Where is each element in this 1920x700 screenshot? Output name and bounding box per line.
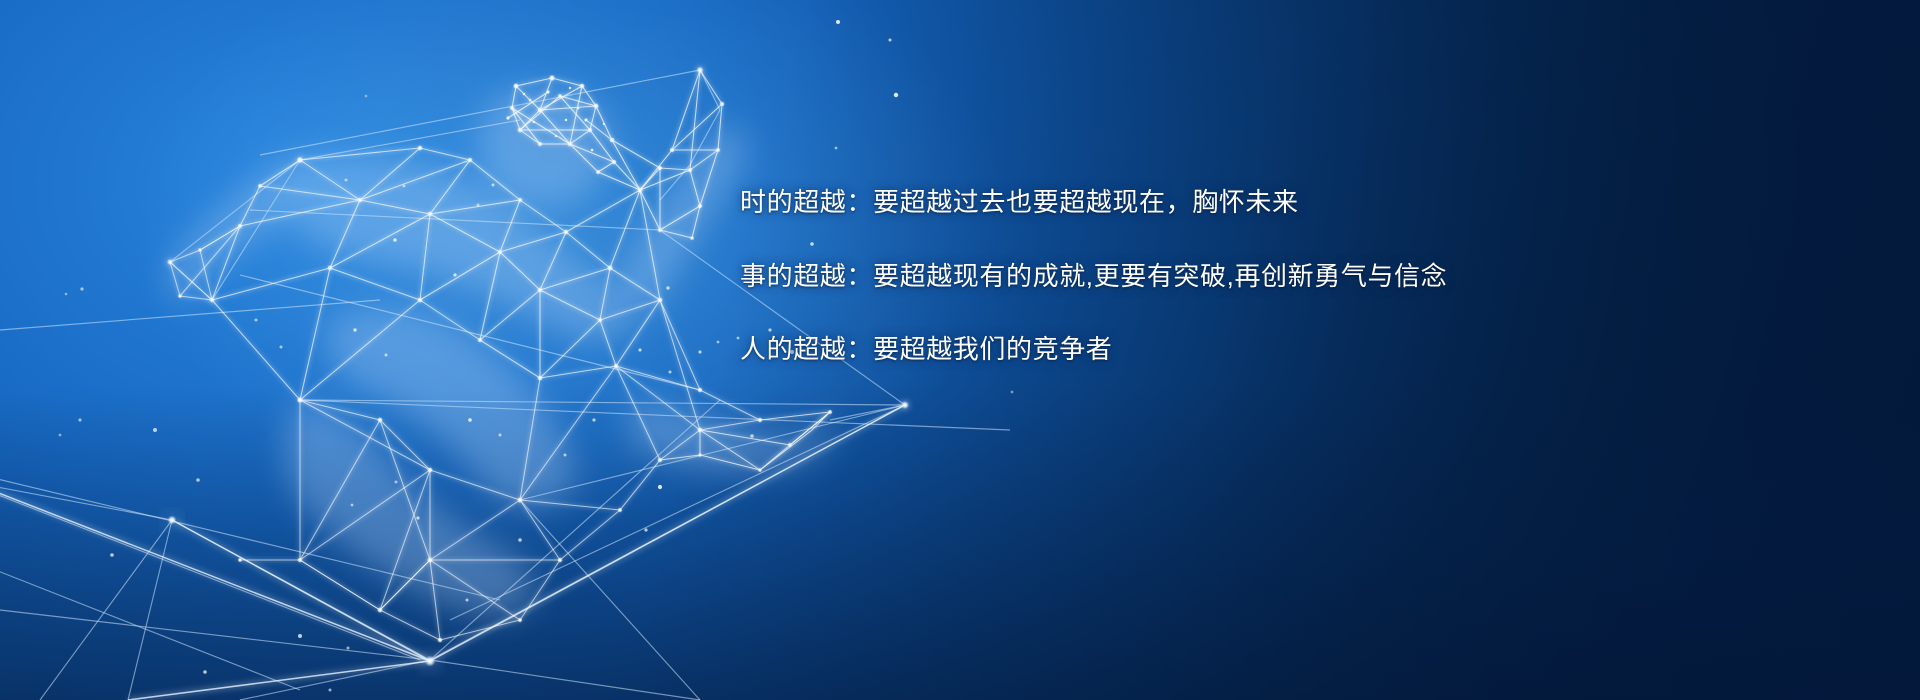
slogan-line-matter: 事的超越：要超越现有的成就,更要有突破,再创新勇气与信念 bbox=[740, 260, 1870, 293]
slogan-line-people: 人的超越：要超越我们的竞争者 bbox=[740, 333, 1870, 366]
hero-banner: 时的超越：要超越过去也要超越现在，胸怀未来 事的超越：要超越现有的成就,更要有突… bbox=[0, 0, 1920, 700]
banner-copy-block: 时的超越：要超越过去也要超越现在，胸怀未来 事的超越：要超越现有的成就,更要有突… bbox=[740, 186, 1870, 366]
slogan-line-time: 时的超越：要超越过去也要超越现在，胸怀未来 bbox=[740, 186, 1870, 219]
